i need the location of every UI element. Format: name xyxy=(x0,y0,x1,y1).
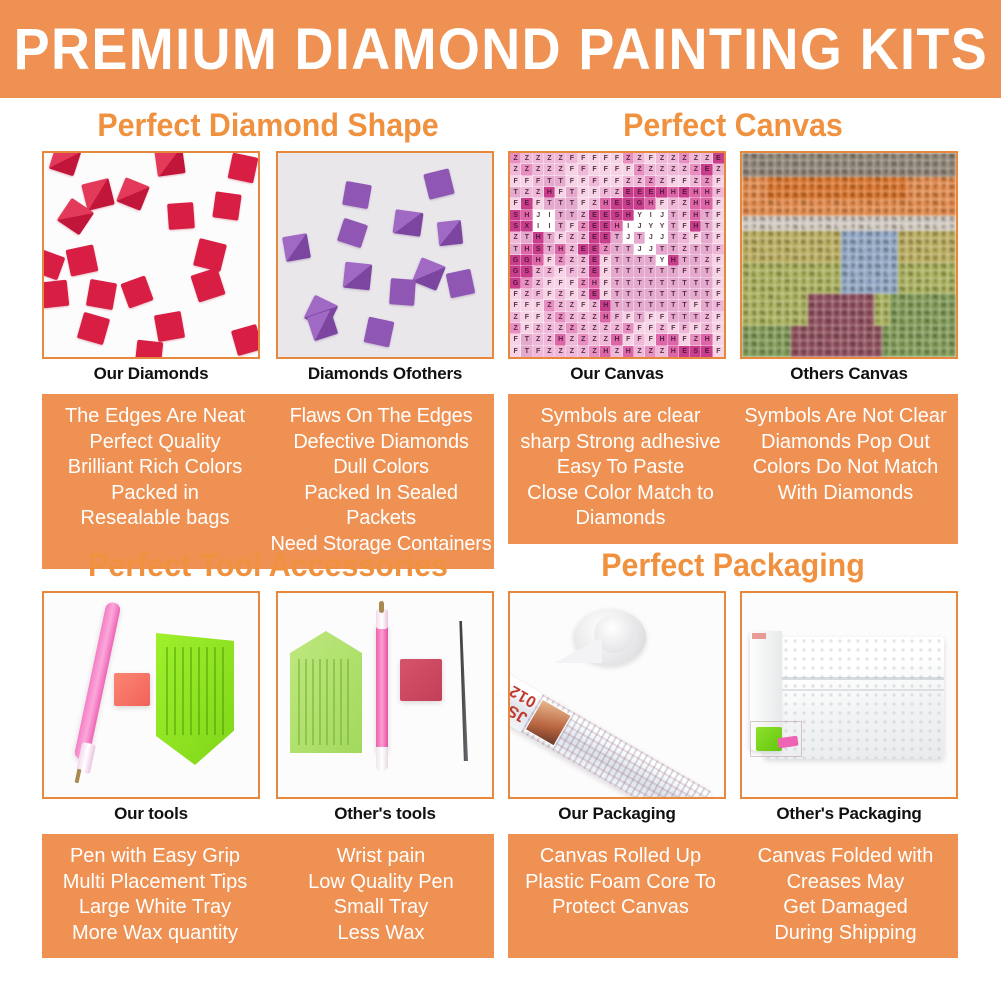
canvas-cell: F xyxy=(713,176,724,187)
canvas-cell: K xyxy=(857,263,865,271)
canvas-cell: L xyxy=(857,247,865,255)
canvas-cell: ? xyxy=(775,341,783,349)
points-our-packaging: Canvas Rolled Up Plastic Foam Core To Pr… xyxy=(508,834,733,958)
canvas-cell: Y xyxy=(865,310,873,318)
canvas-cell: Y xyxy=(915,263,923,271)
canvas-cell: L xyxy=(890,153,898,161)
canvas-cell: F xyxy=(713,198,724,209)
canvas-cell: H xyxy=(791,349,799,357)
canvas-cell: H xyxy=(750,279,758,287)
canvas-cell: T xyxy=(701,266,712,277)
canvas-cell: Y xyxy=(750,169,758,177)
canvas-cell: V xyxy=(775,326,783,334)
canvas-cell: ? xyxy=(874,153,882,161)
canvas-cell: N xyxy=(808,271,816,279)
canvas-cell: H xyxy=(623,346,634,357)
canvas-cell: S xyxy=(849,310,857,318)
canvas-cell: V xyxy=(767,255,775,263)
canvas-cell: S xyxy=(783,216,791,224)
canvas-cell: T xyxy=(857,208,865,216)
canvas-cell: F xyxy=(533,289,544,300)
canvas-cell: % xyxy=(898,286,906,294)
canvas-cell: H xyxy=(874,208,882,216)
canvas-cell: N xyxy=(915,341,923,349)
wax-square-icon xyxy=(114,673,150,706)
canvas-cell: T xyxy=(701,300,712,311)
canvas-cell: N xyxy=(816,341,824,349)
canvas-cell: V xyxy=(931,349,939,357)
canvas-cell: V xyxy=(742,231,750,239)
canvas-cell: N xyxy=(783,247,791,255)
canvas-cell: T xyxy=(833,184,841,192)
canvas-cell: T xyxy=(800,279,808,287)
canvas-cell: F xyxy=(679,210,690,221)
canvas-cell: T xyxy=(849,231,857,239)
canvas-cell: 7 xyxy=(898,208,906,216)
canvas-cell: N xyxy=(791,224,799,232)
canvas-cell: F xyxy=(566,278,577,289)
canvas-cell: F xyxy=(521,176,532,187)
canvas-cell: H xyxy=(841,208,849,216)
canvas-cell: ? xyxy=(841,153,849,161)
canvas-cell: K xyxy=(898,239,906,247)
canvas-cell: T xyxy=(742,161,750,169)
canvas-cell: H xyxy=(940,302,948,310)
canvas-cell: F xyxy=(521,323,532,334)
canvas-cell: 7 xyxy=(758,231,766,239)
canvas-cell: T xyxy=(816,326,824,334)
canvas-cell: ? xyxy=(882,318,890,326)
canvas-cell: Z xyxy=(566,312,577,323)
canvas-cell: T xyxy=(808,255,816,263)
canvas-cell: H xyxy=(890,161,898,169)
canvas-cell: T xyxy=(634,255,645,266)
canvas-cell: F xyxy=(533,176,544,187)
canvas-cell: V xyxy=(791,279,799,287)
canvas-cell: N xyxy=(940,177,948,185)
canvas-cell: H xyxy=(865,326,873,334)
canvas-cell: S xyxy=(841,333,849,341)
canvas-cell: H xyxy=(841,302,849,310)
canvas-cell: < xyxy=(791,271,799,279)
canvas-cell: T xyxy=(566,198,577,209)
canvas-cell: Y xyxy=(800,310,808,318)
canvas-cell: Y xyxy=(791,239,799,247)
canvas-cell: < xyxy=(948,294,956,302)
canvas-cell: H xyxy=(600,198,611,209)
canvas-cell: N xyxy=(931,294,939,302)
canvas-cell: H xyxy=(600,300,611,311)
canvas-cell: H xyxy=(775,208,783,216)
canvas-cell: K xyxy=(800,239,808,247)
canvas-cell: Z xyxy=(578,210,589,221)
canvas-cell: L xyxy=(808,200,816,208)
canvas-cell: Y xyxy=(841,192,849,200)
canvas-cell: K xyxy=(800,333,808,341)
canvas-cell: V xyxy=(865,161,873,169)
canvas-cell: Y xyxy=(767,310,775,318)
canvas-cell: Z xyxy=(645,176,656,187)
canvas-cell: 7 xyxy=(940,279,948,287)
canvas-cell: T xyxy=(758,302,766,310)
canvas-cell: H xyxy=(668,255,679,266)
canvas-cell: Z xyxy=(589,323,600,334)
canvas-cell: H xyxy=(857,349,865,357)
canvas-cell: H xyxy=(611,334,622,345)
canvas-cell: V xyxy=(800,255,808,263)
canvas-cell: J xyxy=(656,232,667,243)
canvas-cell: V xyxy=(767,161,775,169)
canvas-cell: F xyxy=(521,300,532,311)
canvas-cell: 7 xyxy=(767,302,775,310)
canvas-cell: 7 xyxy=(948,349,956,357)
canvas-cell: T xyxy=(679,255,690,266)
canvas-cell: % xyxy=(833,286,841,294)
canvas-cell: L xyxy=(931,224,939,232)
canvas-cell: J xyxy=(623,232,634,243)
canvas-cell: ? xyxy=(833,177,841,185)
canvas-cell: H xyxy=(656,334,667,345)
canvas-cell: H xyxy=(742,302,750,310)
canvas-cell: E xyxy=(589,289,600,300)
canvas-cell: Z xyxy=(521,153,532,164)
canvas-cell: 7 xyxy=(865,302,873,310)
canvas-cell: L xyxy=(758,247,766,255)
canvas-cell: V xyxy=(849,208,857,216)
canvas-cell: Z xyxy=(634,176,645,187)
caption-our-diamonds: Our Diamonds xyxy=(42,359,260,389)
canvas-cell: 7 xyxy=(824,231,832,239)
canvas-cell: H xyxy=(849,184,857,192)
canvas-cell: N xyxy=(849,153,857,161)
canvas-cell: % xyxy=(750,333,758,341)
canvas-cell: N xyxy=(816,153,824,161)
canvas-cell: F xyxy=(566,221,577,232)
canvas-cell: < xyxy=(923,271,931,279)
canvas-cell: V xyxy=(923,184,931,192)
canvas-cell: F xyxy=(589,176,600,187)
image-others-diamonds xyxy=(276,151,494,359)
canvas-cell: % xyxy=(857,310,865,318)
canvas-cell: N xyxy=(857,318,865,326)
canvas-cell: 7 xyxy=(874,279,882,287)
canvas-cell: T xyxy=(566,187,577,198)
canvas-cell: K xyxy=(808,216,816,224)
canvas-cell: F xyxy=(533,346,544,357)
canvas-cell: S xyxy=(758,286,766,294)
canvas-cell: H xyxy=(874,302,882,310)
canvas-cell: N xyxy=(750,153,758,161)
canvas-cell: N xyxy=(923,318,931,326)
canvas-cell: L xyxy=(833,318,841,326)
canvas-cell: K xyxy=(783,192,791,200)
canvas-cell: N xyxy=(841,177,849,185)
canvas-cell: Y xyxy=(634,210,645,221)
canvas-cell: V xyxy=(940,326,948,334)
canvas-cell: Z xyxy=(634,164,645,175)
canvas-cell: < xyxy=(940,224,948,232)
canvas-cell: < xyxy=(833,153,841,161)
canvas-cell: E xyxy=(701,346,712,357)
canvas-cell: K xyxy=(940,216,948,224)
canvas-cell: 7 xyxy=(824,326,832,334)
canvas-cell: Y xyxy=(940,286,948,294)
canvas-cell: Y xyxy=(915,169,923,177)
canvas-cell: L xyxy=(931,318,939,326)
canvas-cell: T xyxy=(679,312,690,323)
canvas-cell: < xyxy=(816,200,824,208)
canvas-cell: N xyxy=(907,271,915,279)
canvas-cell: 7 xyxy=(948,161,956,169)
canvas-cell: S xyxy=(800,263,808,271)
canvas-cell: S xyxy=(865,263,873,271)
canvas-cell: V xyxy=(816,302,824,310)
canvas-cell: S xyxy=(890,192,898,200)
canvas-cell: H xyxy=(948,279,956,287)
canvas-cell: T xyxy=(510,244,521,255)
canvas-cell: Z xyxy=(701,312,712,323)
canvas-cell: H xyxy=(589,278,600,289)
canvas-cell: % xyxy=(849,239,857,247)
canvas-cell: F xyxy=(713,187,724,198)
canvas-cell: K xyxy=(874,310,882,318)
canvas-cell: S xyxy=(923,286,931,294)
canvas-cell: K xyxy=(742,310,750,318)
canvas-cell: % xyxy=(824,310,832,318)
canvas-cell: < xyxy=(898,341,906,349)
canvas-cell: T xyxy=(623,244,634,255)
canvas-cell: Z xyxy=(544,164,555,175)
canvas-cell: Z xyxy=(634,153,645,164)
canvas-cell: S xyxy=(940,239,948,247)
canvas-cell: F xyxy=(713,289,724,300)
canvas-cell: F xyxy=(578,187,589,198)
canvas-cell: T xyxy=(907,349,915,357)
canvas-cell: < xyxy=(742,224,750,232)
canvas-cell: T xyxy=(521,232,532,243)
canvas-cell: K xyxy=(758,169,766,177)
canvas-cell: S xyxy=(907,239,915,247)
canvas-cell: V xyxy=(948,302,956,310)
canvas-cell: ? xyxy=(816,318,824,326)
canvas-cell: Z xyxy=(533,266,544,277)
canvas-cell: % xyxy=(775,169,783,177)
canvas-cell: L xyxy=(775,294,783,302)
caption-our-packaging: Our Packaging xyxy=(508,799,726,829)
canvas-cell: % xyxy=(767,192,775,200)
canvas-cell: F xyxy=(510,334,521,345)
canvas-cell: H xyxy=(915,279,923,287)
canvas-cell: Z xyxy=(600,244,611,255)
canvas-cell: E xyxy=(600,210,611,221)
canvas-cell: H xyxy=(690,221,701,232)
canvas-cell: % xyxy=(898,192,906,200)
points-block-packaging: Canvas Rolled Up Plastic Foam Core To Pr… xyxy=(508,834,958,958)
canvas-cell: Z xyxy=(566,346,577,357)
image-our-canvas: ZZZZZFFFFFZZFZZZZZEZZZZZFFFFFFZZZZZZEZFF… xyxy=(508,151,726,359)
canvas-cell: ? xyxy=(857,294,865,302)
canvas-cell: F xyxy=(544,255,555,266)
canvas-cell: L xyxy=(923,153,931,161)
canvas-cell: K xyxy=(833,239,841,247)
canvas-cell: V xyxy=(841,326,849,334)
canvas-cell: K xyxy=(865,239,873,247)
canvas-cell: H xyxy=(816,184,824,192)
canvas-cell: T xyxy=(544,232,555,243)
canvas-cell: Z xyxy=(544,312,555,323)
canvas-cell: L xyxy=(800,318,808,326)
canvas-cell: ? xyxy=(841,247,849,255)
canvas-cell: V xyxy=(923,279,931,287)
canvas-cell: L xyxy=(775,200,783,208)
canvas-cell: T xyxy=(791,302,799,310)
canvas-cell: < xyxy=(890,271,898,279)
canvas-cell: V xyxy=(890,279,898,287)
canvas-cell: N xyxy=(915,247,923,255)
canvas-cell: < xyxy=(874,318,882,326)
canvas-cell: 7 xyxy=(750,349,758,357)
canvas-cell: S xyxy=(816,310,824,318)
canvas-cell: F xyxy=(713,255,724,266)
canvas-cell: S xyxy=(611,210,622,221)
canvas-cell: V xyxy=(767,349,775,357)
symbol-grid-others: ?NL<?NL<?NL<?NL<?NL<?NL<?NT7HVT7HVT7HVT7… xyxy=(742,153,956,357)
canvas-cell: Z xyxy=(589,334,600,345)
canvas-cell: T xyxy=(690,289,701,300)
canvas-cell: L xyxy=(841,294,849,302)
canvas-cell: 7 xyxy=(882,349,890,357)
canvas-cell: T xyxy=(701,232,712,243)
canvas-cell: 7 xyxy=(865,208,873,216)
canvas-cell: % xyxy=(907,263,915,271)
canvas-cell: F xyxy=(510,300,521,311)
canvas-cell: F xyxy=(713,334,724,345)
canvas-cell: V xyxy=(898,161,906,169)
canvas-cell: Z xyxy=(555,323,566,334)
canvas-cell: < xyxy=(808,224,816,232)
canvas-cell: L xyxy=(882,271,890,279)
canvas-cell: T xyxy=(865,184,873,192)
canvas-cell: ? xyxy=(874,247,882,255)
canvas-cell: F xyxy=(611,176,622,187)
canvas-cell: ? xyxy=(833,271,841,279)
page-title: PREMIUM DIAMOND PAINTING KITS xyxy=(13,16,987,83)
canvas-cell: Y xyxy=(808,286,816,294)
canvas-cell: % xyxy=(931,192,939,200)
canvas-cell: K xyxy=(890,169,898,177)
canvas-cell: % xyxy=(808,263,816,271)
canvas-cell: F xyxy=(578,198,589,209)
canvas-cell: T xyxy=(775,255,783,263)
canvas-cell: Z xyxy=(701,255,712,266)
canvas-cell: T xyxy=(874,349,882,357)
canvas-cell: 7 xyxy=(775,184,783,192)
canvas-cell: < xyxy=(800,341,808,349)
canvas-cell: S xyxy=(791,192,799,200)
canvas-cell: T xyxy=(510,187,521,198)
canvas-cell: E xyxy=(589,244,600,255)
canvas-cell: 7 xyxy=(791,326,799,334)
canvas-cell: T xyxy=(701,221,712,232)
canvas-cell: 7 xyxy=(890,326,898,334)
canvas-cell: < xyxy=(750,294,758,302)
canvas-cell: 7 xyxy=(841,279,849,287)
canvas-cell: Z xyxy=(600,334,611,345)
canvas-cell: % xyxy=(923,310,931,318)
canvas-cell: K xyxy=(775,216,783,224)
canvas-cell: < xyxy=(907,224,915,232)
canvas-cell: Y xyxy=(923,333,931,341)
canvas-cell: T xyxy=(690,255,701,266)
canvas-cell: T xyxy=(767,279,775,287)
canvas-cell: T xyxy=(690,278,701,289)
canvas-cell: < xyxy=(931,341,939,349)
canvas-cell: Z xyxy=(589,346,600,357)
canvas-cell: T xyxy=(701,244,712,255)
canvas-cell: F xyxy=(600,266,611,277)
canvas-cell: < xyxy=(833,341,841,349)
canvas-cell: T xyxy=(907,255,915,263)
canvas-cell: Y xyxy=(948,263,956,271)
canvas-cell: J xyxy=(645,244,656,255)
canvas-cell: H xyxy=(898,326,906,334)
canvas-cell: E xyxy=(578,244,589,255)
canvas-cell: % xyxy=(816,333,824,341)
canvas-cell: < xyxy=(824,271,832,279)
canvas-cell: F xyxy=(679,323,690,334)
canvas-cell: S xyxy=(750,310,758,318)
canvas-cell: % xyxy=(767,286,775,294)
canvas-cell: Z xyxy=(544,334,555,345)
canvas-cell: F xyxy=(623,164,634,175)
canvas-cell: Y xyxy=(874,286,882,294)
canvas-cell: F xyxy=(713,244,724,255)
canvas-cell: Z xyxy=(668,164,679,175)
canvas-cell: Z xyxy=(566,244,577,255)
canvas-cell: S xyxy=(775,239,783,247)
canvas-cell: Y xyxy=(857,239,865,247)
canvas-cell: 7 xyxy=(849,255,857,263)
canvas-cell: T xyxy=(611,300,622,311)
canvas-cell: S xyxy=(833,169,841,177)
canvas-cell: ? xyxy=(865,177,873,185)
canvas-cell: E xyxy=(645,187,656,198)
canvas-cell: 7 xyxy=(783,161,791,169)
canvas-cell: N xyxy=(915,153,923,161)
canvas-cell: I xyxy=(544,210,555,221)
canvas-cell: < xyxy=(849,200,857,208)
canvas-cell: T xyxy=(656,266,667,277)
canvas-cell: T xyxy=(701,210,712,221)
canvas-cell: T xyxy=(923,208,931,216)
canvas-cell: Z xyxy=(521,187,532,198)
canvas-cell: F xyxy=(510,176,521,187)
caption-our-canvas: Our Canvas xyxy=(508,359,726,389)
canvas-cell: N xyxy=(742,177,750,185)
section-title-canvas: Perfect Canvas xyxy=(519,105,947,145)
canvas-cell: % xyxy=(915,239,923,247)
image-our-diamonds xyxy=(42,151,260,359)
canvas-cell: V xyxy=(898,349,906,357)
canvas-cell: V xyxy=(775,231,783,239)
canvas-cell: E xyxy=(600,221,611,232)
canvas-cell: F xyxy=(510,198,521,209)
canvas-cell: H xyxy=(833,326,841,334)
canvas-cell: V xyxy=(857,279,865,287)
canvas-cell: T xyxy=(701,289,712,300)
caption-others-packaging: Other's Packaging xyxy=(740,799,958,829)
canvas-cell: % xyxy=(874,263,882,271)
